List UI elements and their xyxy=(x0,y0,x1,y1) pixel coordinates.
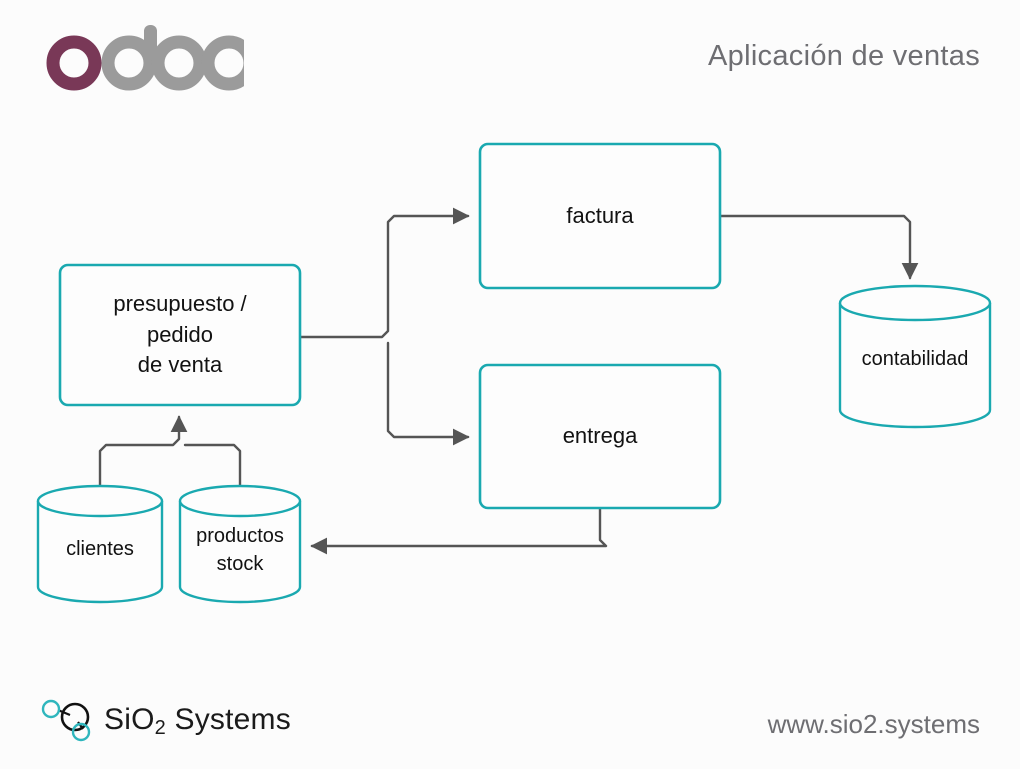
sio2-suffix: Systems xyxy=(166,703,291,736)
node-factura-shape xyxy=(480,144,720,288)
edge-presupuesto-entrega xyxy=(388,343,468,437)
sio2-systems-logo: SiO2 Systems xyxy=(36,692,326,748)
node-contabilidad-shape xyxy=(840,286,990,427)
edge-factura-contabilidad xyxy=(720,216,910,278)
slide-canvas: Aplicación de ventas xyxy=(0,0,1020,769)
sio2-subscript: 2 xyxy=(155,717,166,739)
edge-presupuesto-factura xyxy=(300,216,468,337)
node-entrega-shape xyxy=(480,365,720,508)
sio2-name: SiO xyxy=(104,703,155,736)
edge-productos-presupuesto xyxy=(185,445,240,488)
edge-entrega-productos xyxy=(312,508,606,546)
node-productos-shape xyxy=(180,486,300,602)
sio2-wordmark: SiO2 Systems xyxy=(104,703,291,737)
footer-url: www.sio2.systems xyxy=(768,709,980,740)
node-presupuesto-shape xyxy=(60,265,300,405)
node-clientes-shape xyxy=(38,486,162,602)
flow-diagram xyxy=(0,0,1020,769)
edge-clientes-presupuesto xyxy=(100,417,179,488)
molecule-icon xyxy=(36,694,98,746)
